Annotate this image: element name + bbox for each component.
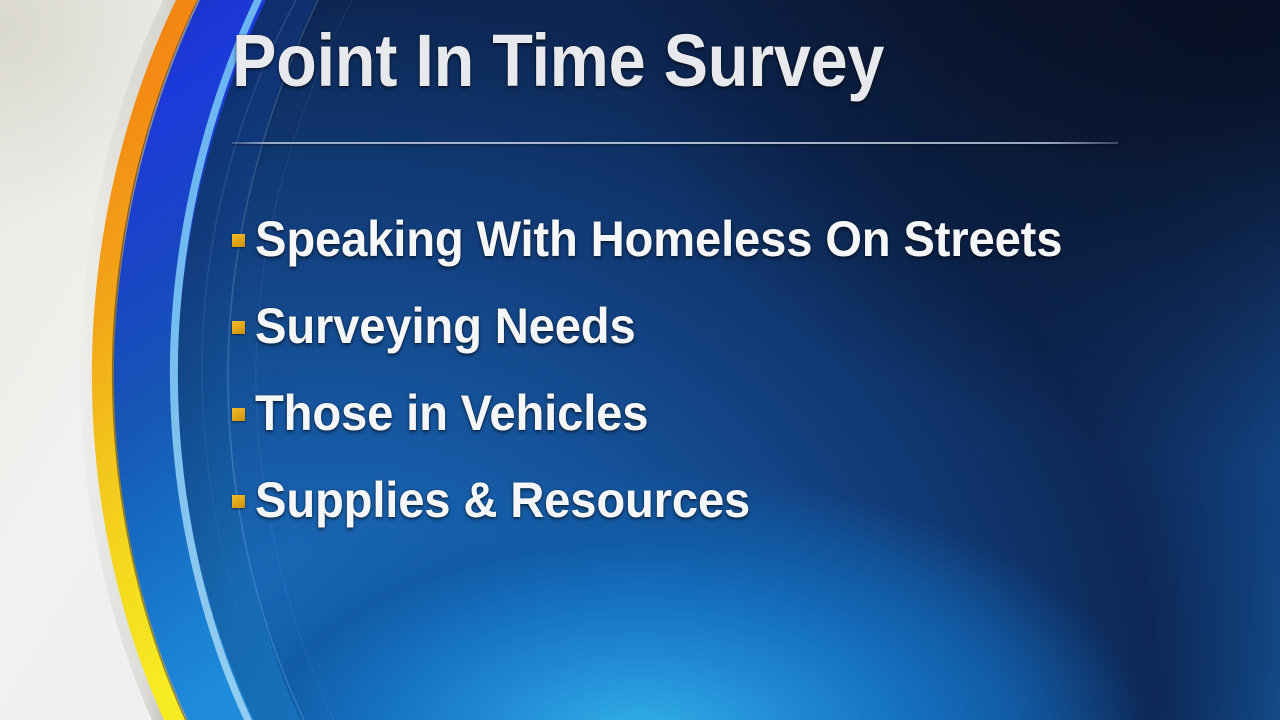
list-item: Those in Vehicles: [232, 369, 1132, 456]
bullet-list: Speaking With Homeless On Streets Survey…: [232, 195, 1132, 543]
list-item: Surveying Needs: [232, 282, 1132, 369]
list-item-label: Supplies & Resources: [255, 475, 750, 525]
list-item: Supplies & Resources: [232, 456, 1132, 543]
slide-content: Point In Time Survey Speaking With Homel…: [232, 0, 1132, 720]
page-title: Point In Time Survey: [232, 24, 884, 98]
square-bullet-icon: [232, 234, 245, 247]
list-item-label: Speaking With Homeless On Streets: [255, 214, 1062, 264]
list-item-label: Surveying Needs: [255, 301, 636, 351]
list-item-label: Those in Vehicles: [255, 388, 648, 438]
square-bullet-icon: [232, 321, 245, 334]
square-bullet-icon: [232, 408, 245, 421]
title-divider-rule: [232, 142, 1118, 144]
list-item: Speaking With Homeless On Streets: [232, 195, 1132, 282]
presentation-slide: Point In Time Survey Speaking With Homel…: [0, 0, 1280, 720]
square-bullet-icon: [232, 495, 245, 508]
